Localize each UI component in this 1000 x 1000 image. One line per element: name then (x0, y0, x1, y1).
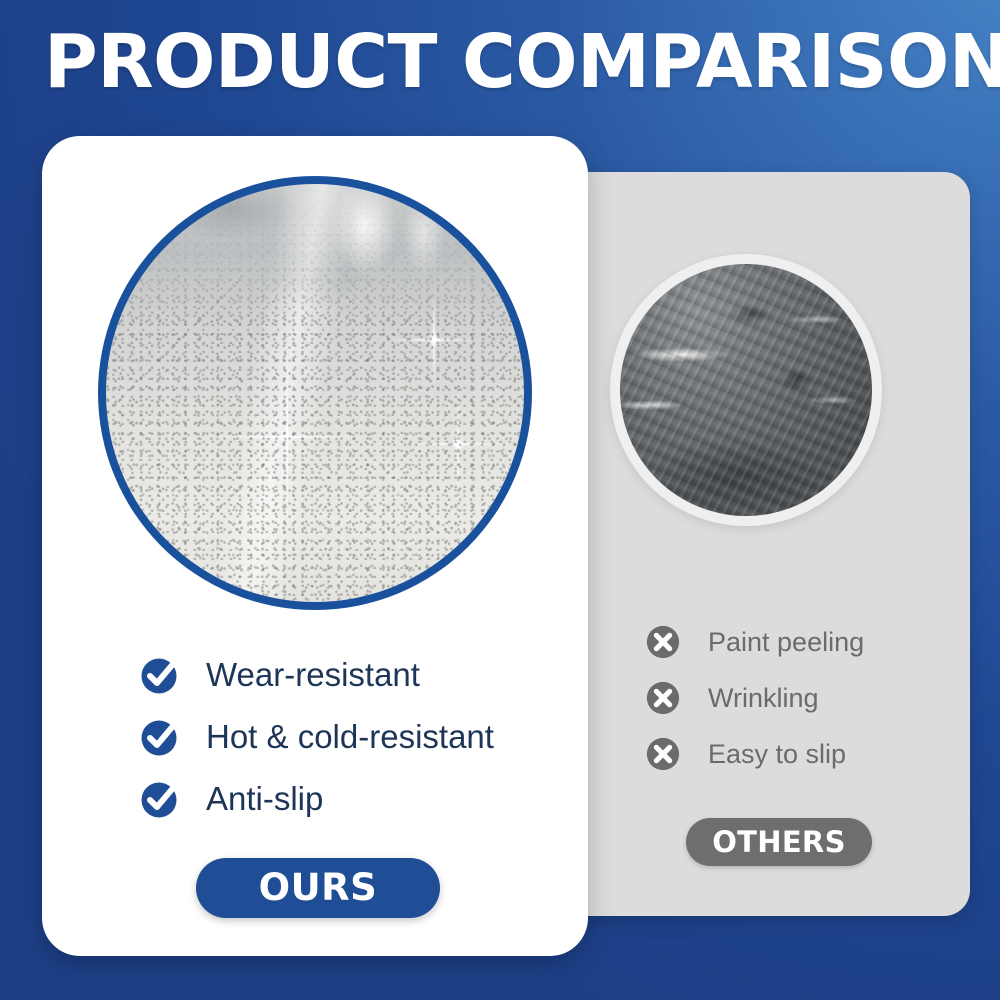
list-item-label: Easy to slip (708, 738, 846, 770)
sparkle-icon (404, 390, 512, 498)
page-title: PRODUCT COMPARISON (44, 20, 955, 104)
others-card-content: Paint peeling Wrinkling Easy to slip (588, 172, 970, 916)
list-item: Paint peeling (644, 614, 974, 670)
list-item: Anti-slip (138, 768, 578, 830)
others-floor-photo (620, 264, 872, 516)
check-circle-icon (138, 653, 182, 697)
product-comparison-poster: PRODUCT COMPARISON Paint peeling (0, 0, 1000, 1000)
list-item-label: Wear-resistant (206, 656, 420, 694)
list-item-label: Paint peeling (708, 626, 864, 658)
others-photo-ring (610, 254, 882, 526)
list-item-label: Anti-slip (206, 780, 323, 818)
x-circle-icon (644, 679, 682, 717)
ours-floor-photo (106, 184, 524, 602)
list-item: Wrinkling (644, 670, 974, 726)
x-circle-icon (644, 735, 682, 773)
others-feature-list: Paint peeling Wrinkling Easy to slip (644, 614, 974, 782)
check-circle-icon (138, 715, 182, 759)
list-item: Easy to slip (644, 726, 974, 782)
ours-photo-ring (98, 176, 532, 610)
sparkle-icon (202, 352, 372, 522)
list-item-label: Hot & cold-resistant (206, 718, 494, 756)
sparkle-icon (386, 292, 482, 388)
ours-feature-list: Wear-resistant Hot & cold-resistant Anti… (138, 644, 578, 830)
x-circle-icon (644, 623, 682, 661)
ours-badge: OURS (196, 858, 440, 918)
others-badge: OTHERS (686, 818, 872, 866)
check-circle-icon (138, 777, 182, 821)
list-item: Hot & cold-resistant (138, 706, 578, 768)
ours-card: Wear-resistant Hot & cold-resistant Anti… (42, 136, 588, 956)
list-item-label: Wrinkling (708, 682, 819, 714)
list-item: Wear-resistant (138, 644, 578, 706)
